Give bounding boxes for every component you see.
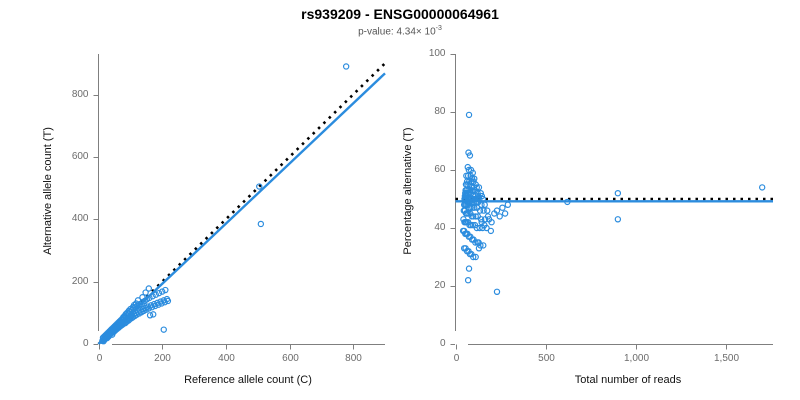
right-panel-points: [460, 112, 764, 294]
data-point: [500, 205, 505, 210]
data-point: [615, 217, 620, 222]
right-panel-y-tick-label: 0: [394, 338, 446, 349]
right-panel-y-tick-label: 100: [394, 48, 446, 59]
left-panel-y-tick-label: 600: [37, 151, 89, 162]
data-point: [505, 202, 510, 207]
data-point: [488, 228, 493, 233]
data-point: [482, 202, 487, 207]
left-panel-x-tick-label: 200: [133, 353, 193, 364]
right-panel-y-tick-label: 40: [394, 222, 446, 233]
right-panel-group: [451, 54, 774, 350]
right-panel-y-tick-label: 20: [394, 280, 446, 291]
data-point: [466, 278, 471, 283]
right-panel-x-tick-label: 1,000: [607, 353, 667, 364]
left-panel-y-tick-label: 0: [37, 338, 89, 349]
data-point: [466, 112, 471, 117]
right-panel-y-tick-label: 80: [394, 106, 446, 117]
left-panel-y-tick-label: 400: [37, 213, 89, 224]
left-panel-y-tick-label: 800: [37, 89, 89, 100]
right-panel-x-tick-label: 0: [427, 353, 487, 364]
data-point: [503, 211, 508, 216]
left-panel-x-tick-label: 0: [70, 353, 130, 364]
left-panel-x-tick-label: 800: [324, 353, 384, 364]
left-panel-x-tick-label: 400: [197, 353, 257, 364]
data-point: [147, 313, 152, 318]
data-point: [760, 185, 765, 190]
data-point: [258, 221, 263, 226]
right-panel-x-tick-label: 1,500: [697, 353, 757, 364]
data-point: [497, 214, 502, 219]
data-point: [615, 191, 620, 196]
left-panel-group: [94, 54, 386, 350]
data-point: [161, 327, 166, 332]
data-point: [344, 64, 349, 69]
left-panel-fit-line: [99, 73, 386, 344]
right-panel-x-tick-label: 500: [517, 353, 577, 364]
left-panel-points: [100, 64, 349, 344]
right-panel-y-tick-label: 60: [394, 164, 446, 175]
left-panel-y-tick-label: 200: [37, 276, 89, 287]
figure-root: rs939209 - ENSG00000064961 p-value: 4.34…: [0, 0, 800, 400]
data-point: [466, 266, 471, 271]
data-point: [494, 289, 499, 294]
left-panel-x-tick-label: 600: [261, 353, 321, 364]
data-point: [485, 208, 490, 213]
